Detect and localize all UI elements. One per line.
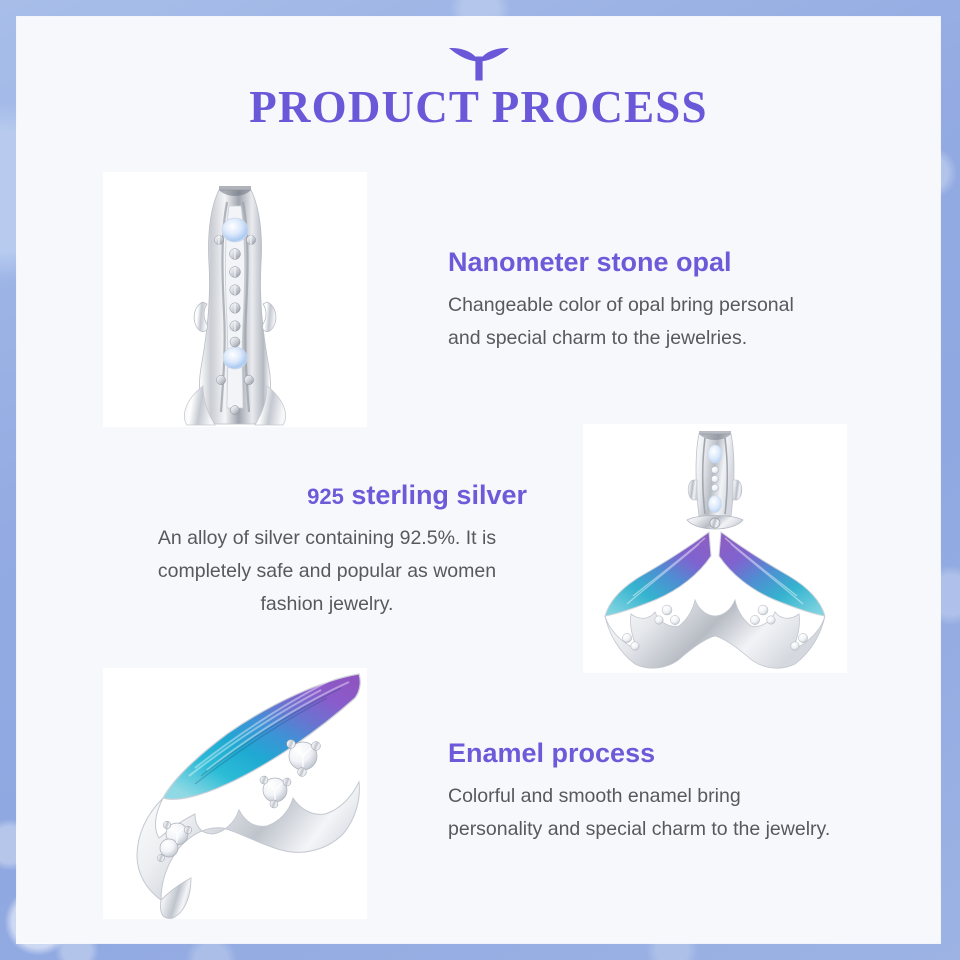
enamel-macro-image (103, 668, 367, 919)
section-title-3: Enamel process (448, 738, 898, 769)
product-image-card-3 (103, 668, 367, 919)
section-body-3-line-2: personality and special charm to the jew… (448, 813, 898, 846)
section-body-3-line-1: Colorful and smooth enamel bring (448, 780, 898, 813)
section-enamel-process: Enamel process Colorful and smooth ename… (17, 17, 940, 943)
text-block-enamel-process: Enamel process Colorful and smooth ename… (448, 738, 898, 846)
content-panel: PRODUCT PROCESS (17, 17, 940, 943)
section-body-3: Colorful and smooth enamel bring persona… (448, 780, 898, 846)
